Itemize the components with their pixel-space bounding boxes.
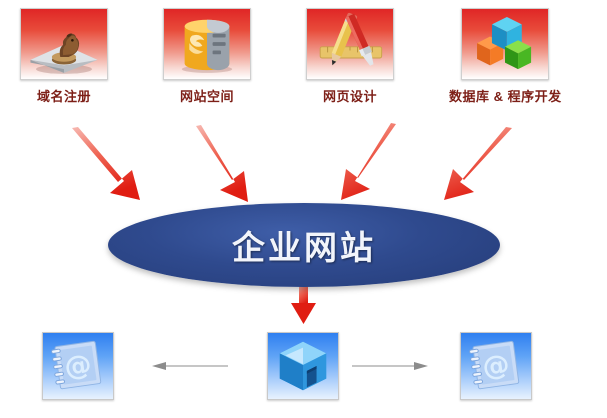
input-arrow-3 — [341, 123, 396, 200]
service-item-hosting[interactable]: 网站空间 — [163, 8, 251, 105]
hub-label: 企业网站 — [232, 221, 376, 269]
service-label-hosting: 网站空间 — [180, 86, 234, 105]
service-item-domain[interactable]: 域名注册 — [20, 8, 108, 105]
connector-right — [352, 362, 428, 370]
at-address-book-icon: @ — [42, 332, 114, 400]
connector-left — [152, 362, 228, 370]
service-item-webdesign[interactable]: 网页设计 — [306, 8, 394, 105]
hub-down-arrow — [291, 284, 316, 324]
service-label-webdesign: 网页设计 — [323, 86, 377, 105]
input-arrow-4 — [444, 127, 512, 200]
svg-text:@: @ — [62, 349, 93, 383]
hub-ellipse: 企业网站 — [108, 203, 500, 287]
input-arrow-2 — [196, 125, 248, 202]
output-item-left[interactable]: @ — [42, 332, 114, 400]
hub-node[interactable]: 企业网站 — [108, 203, 500, 287]
database-server-icon — [163, 8, 251, 80]
service-label-domain: 域名注册 — [37, 86, 91, 105]
service-item-database-dev[interactable]: 数据库 & 程序开发 — [449, 8, 562, 105]
pencil-brush-icon — [306, 8, 394, 80]
service-label-database-dev: 数据库 & 程序开发 — [449, 86, 562, 105]
diagram-canvas: 域名注册 网站空间 — [0, 0, 607, 418]
output-item-right[interactable]: @ — [460, 332, 532, 400]
home-house-icon — [267, 332, 339, 400]
colored-cubes-icon — [461, 8, 549, 80]
input-arrow-1 — [72, 127, 140, 200]
svg-text:@: @ — [480, 349, 511, 383]
chess-knight-icon — [20, 8, 108, 80]
output-item-center[interactable] — [267, 332, 339, 400]
at-address-book-icon: @ — [460, 332, 532, 400]
